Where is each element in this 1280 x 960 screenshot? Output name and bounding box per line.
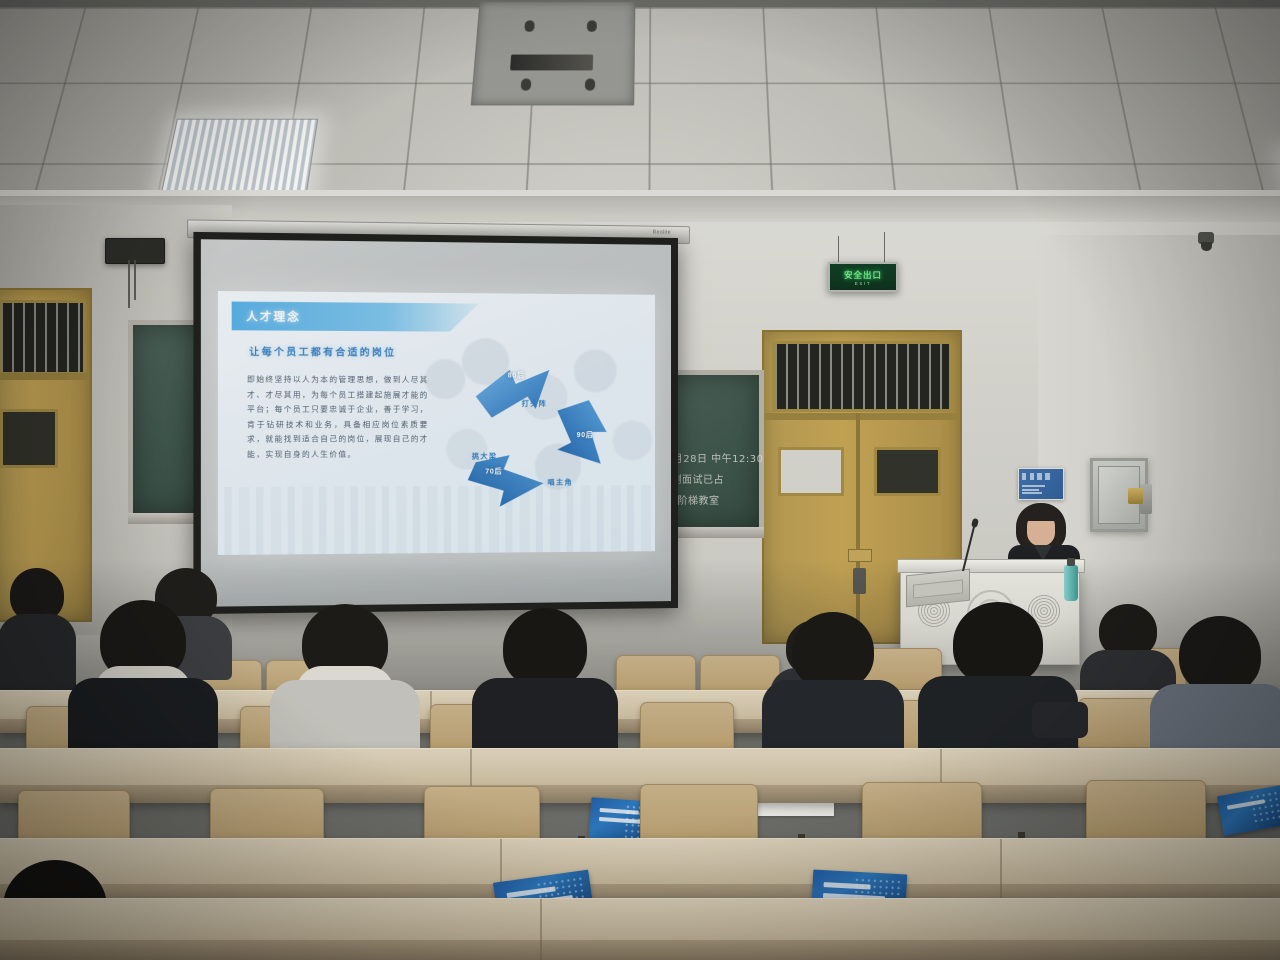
seat-back bbox=[1086, 780, 1206, 840]
lecture-hall-photo: 11月28日 中午12:30 机测面试已占 小阶梯教室 安全出口 EXIT Re… bbox=[0, 0, 1280, 960]
arrow-inner-label: 90后 bbox=[571, 431, 599, 440]
presenter-fringe bbox=[1025, 508, 1057, 521]
ceiling-security-camera bbox=[1198, 232, 1214, 244]
seat-back bbox=[862, 782, 982, 842]
audience-member bbox=[762, 612, 904, 762]
seat-back bbox=[640, 702, 734, 752]
person-head bbox=[953, 602, 1043, 686]
projection-screen: Reolite 人才理念 让每个员工都有合适的岗位 即始终坚持以人为本的管理思想… bbox=[193, 232, 678, 614]
screen-surface: 人才理念 让每个员工都有合适的岗位 即始终坚持以人为本的管理思想，做到人尽其才、… bbox=[201, 239, 671, 607]
slide-subtitle: 让每个员工都有合适的岗位 bbox=[249, 344, 396, 359]
arrow-inner-label: 70后 bbox=[480, 468, 508, 477]
water-bottle bbox=[1064, 565, 1078, 601]
door-vision-panel bbox=[874, 447, 941, 496]
arrow-inner-label: 80后 bbox=[508, 371, 525, 380]
door-vision-panel bbox=[0, 409, 58, 468]
flyer-pattern bbox=[1248, 789, 1280, 827]
screen-border: 人才理念 让每个员工都有合适的岗位 即始终坚持以人为本的管理思想，做到人尽其才、… bbox=[193, 232, 678, 614]
display-cable bbox=[134, 260, 136, 300]
panel-padlock[interactable] bbox=[1128, 488, 1143, 504]
arrow-cycle-svg bbox=[440, 350, 638, 538]
exit-sign-label-cn: 安全出口 bbox=[844, 269, 882, 281]
door-transom-window bbox=[772, 341, 952, 412]
mount-bolt bbox=[587, 20, 597, 32]
ceiling-projector-mount bbox=[471, 1, 636, 105]
desk-seam bbox=[540, 899, 542, 960]
slide-title-text: 人才理念 bbox=[246, 308, 301, 325]
door-transom-window bbox=[0, 300, 86, 375]
backpack-on-desk bbox=[1032, 702, 1088, 738]
door-rail bbox=[0, 373, 90, 380]
audience-member bbox=[0, 560, 74, 690]
audience-member bbox=[918, 602, 1078, 764]
seat-back bbox=[640, 784, 758, 844]
presentation-slide: 人才理念 让每个员工都有合适的岗位 即始终坚持以人为本的管理思想，做到人尽其才、… bbox=[218, 291, 655, 555]
electrical-panel-box[interactable] bbox=[1090, 458, 1148, 532]
door-rail bbox=[764, 413, 960, 420]
display-cable bbox=[128, 260, 130, 308]
three-arrow-cycle-diagram: 80后 打头阵 90后 唱主角 70后 挑大梁 bbox=[440, 350, 638, 538]
person-head bbox=[792, 612, 874, 690]
seat-back bbox=[424, 786, 540, 846]
arrow-outer-label: 挑大梁 bbox=[472, 451, 498, 461]
person-torso bbox=[0, 614, 76, 692]
slide-title-banner: 人才理念 bbox=[231, 301, 479, 332]
desk-row-foreground bbox=[0, 898, 1280, 960]
desk-edge bbox=[0, 940, 1280, 960]
door-vision-panel bbox=[778, 447, 845, 496]
audience-member bbox=[270, 604, 420, 762]
mount-bolt bbox=[521, 78, 532, 90]
arrow-outer-label: 唱主角 bbox=[547, 477, 573, 487]
mount-bolt bbox=[585, 78, 595, 90]
audience-member bbox=[472, 608, 618, 762]
projector-lens bbox=[510, 54, 593, 71]
slide-body-text: 即始终坚持以人为本的管理思想，做到人尽其才、才尽其用，为每个员工搭建起施展才能的… bbox=[247, 373, 429, 463]
person-head bbox=[1179, 616, 1261, 694]
laptop-screen bbox=[913, 579, 963, 598]
mount-bolt bbox=[524, 20, 534, 32]
exit-sign-label-en: EXIT bbox=[855, 281, 871, 286]
audience-member bbox=[1150, 616, 1280, 766]
blue-info-placard bbox=[1018, 468, 1064, 500]
exit-sign-wire bbox=[838, 236, 839, 264]
screen-brand-label: Reolite bbox=[653, 230, 671, 236]
audience-member bbox=[68, 600, 218, 760]
desk-seam bbox=[1000, 839, 1002, 907]
emergency-exit-sign: 安全出口 EXIT bbox=[828, 262, 898, 292]
desk-row bbox=[0, 838, 1280, 907]
lectern-top bbox=[897, 559, 1085, 573]
exit-sign-wire bbox=[884, 232, 885, 264]
arrow-outer-label: 打头阵 bbox=[522, 399, 548, 409]
person-head bbox=[503, 608, 587, 688]
